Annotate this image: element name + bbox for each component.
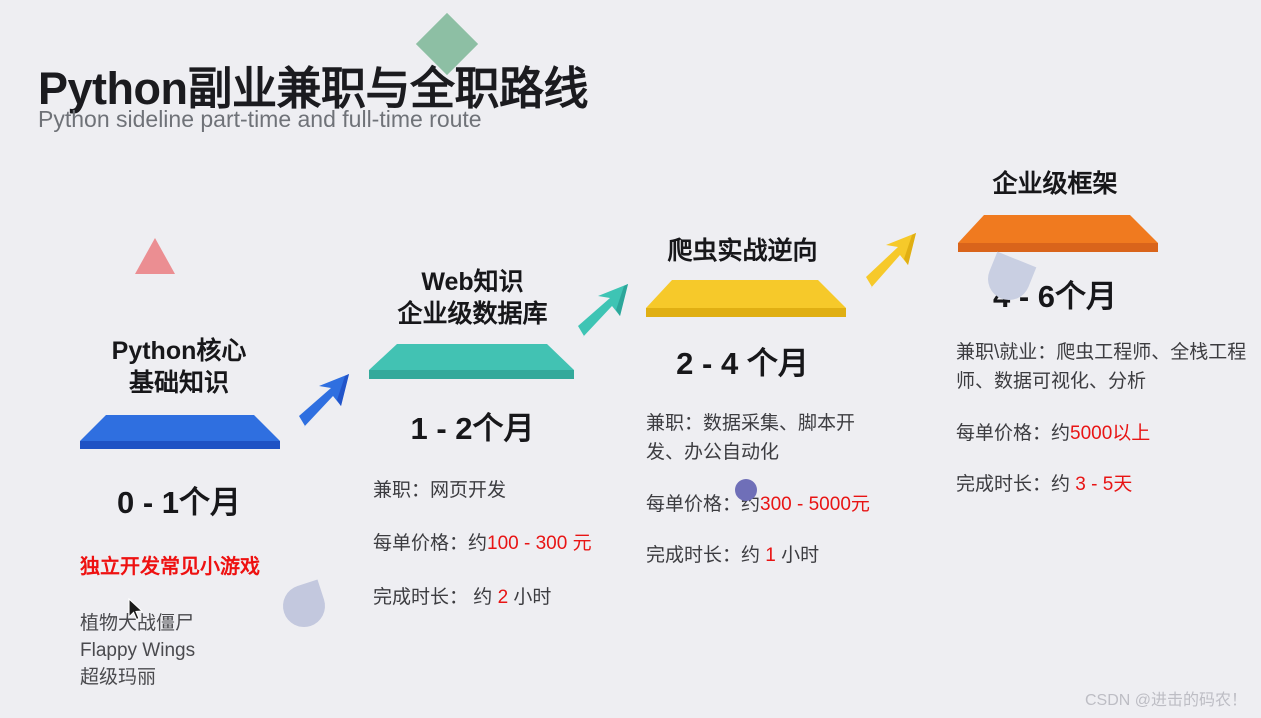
stage-2-detail-row-2: 每单价格：约100 - 300 元 — [373, 529, 593, 558]
stage-4-platform — [958, 211, 1158, 257]
detail-value: 约 — [1051, 474, 1075, 495]
detail-suffix: 小时 — [508, 587, 551, 608]
stage-2-detail-row-3: 完成时长： 约 2 小时 — [373, 583, 593, 612]
arrow-stage-3-to-4-icon — [860, 225, 924, 300]
detail-highlight: 1 — [765, 545, 776, 566]
stage-1-heading-line-1: Python核心 — [38, 335, 320, 367]
detail-value: 网页开发 — [430, 480, 506, 501]
stage-4-detail-row-2: 每单价格：约5000以上 — [956, 419, 1248, 448]
stage-2-heading-line-2: 企业级数据库 — [355, 298, 590, 330]
detail-highlight: 100 - 300 元 — [487, 533, 592, 554]
detail-label: 兼职： — [646, 413, 703, 434]
detail-label: 完成时长： — [646, 545, 741, 566]
stage-2-duration: 1 - 2个月 — [355, 403, 590, 448]
stage-1-platform — [80, 411, 280, 455]
stage-2-detail-row-1: 兼职：网页开发 — [373, 476, 593, 505]
triangle-decoration-icon — [135, 238, 175, 274]
mouse-cursor-icon — [128, 598, 144, 627]
detail-suffix: 小时 — [776, 545, 819, 566]
stage-4-heading: 企业级框架 — [940, 168, 1170, 200]
stage-4-heading-line-1: 企业级框架 — [940, 168, 1170, 200]
arrow-stage-2-to-3-icon — [572, 276, 636, 349]
detail-highlight: 2 — [498, 587, 509, 608]
detail-label: 兼职\就业： — [956, 342, 1056, 363]
dot-decoration-icon — [735, 479, 757, 501]
page-subtitle: Python sideline part-time and full-time … — [38, 106, 482, 133]
detail-value: 约 — [741, 545, 765, 566]
detail-value: 约 — [468, 587, 498, 608]
detail-highlight: 3 - 5天 — [1075, 474, 1132, 495]
stage-2-heading-line-1: Web知识 — [355, 266, 590, 298]
list-item: Flappy Wings — [80, 638, 338, 665]
stage-3-details: 兼职：数据采集、脚本开发、办公自动化 每单价格：约300 - 5000元 完成时… — [646, 409, 884, 571]
detail-label: 每单价格： — [646, 494, 741, 515]
stage-3-heading-line-1: 爬虫实战逆向 — [640, 235, 845, 267]
stage-3-heading: 爬虫实战逆向 — [640, 235, 845, 267]
stage-2-platform — [369, 340, 574, 384]
stage-1-duration: 0 - 1个月 — [38, 477, 320, 522]
detail-highlight: 300 - 5000元 — [760, 494, 870, 515]
stage-2-heading: Web知识 企业级数据库 — [355, 266, 590, 330]
detail-label: 完成时长： — [373, 587, 468, 608]
list-item: 超级玛丽 — [80, 665, 338, 692]
stage-3-detail-row-1: 兼职：数据采集、脚本开发、办公自动化 — [646, 409, 884, 468]
stage-3-duration: 2 - 4 个月 — [640, 338, 845, 383]
stage-4-details: 兼职\就业：爬虫工程师、全栈工程师、数据可视化、分析 每单价格：约5000以上 … — [956, 338, 1248, 500]
stage-3-detail-row-3: 完成时长：约 1 小时 — [646, 541, 884, 570]
stage-4-detail-row-3: 完成时长：约 3 - 5天 — [956, 470, 1248, 499]
detail-label: 每单价格： — [373, 533, 468, 554]
detail-label: 完成时长： — [956, 474, 1051, 495]
stage-3-detail-row-2: 每单价格：约300 - 5000元 — [646, 490, 884, 519]
stage-4-detail-row-1: 兼职\就业：爬虫工程师、全栈工程师、数据可视化、分析 — [956, 338, 1248, 397]
detail-highlight: 5000以上 — [1070, 423, 1150, 444]
detail-value: 约 — [1051, 423, 1070, 444]
stage-1-heading-line-2: 基础知识 — [38, 367, 320, 399]
stage-column-4: 企业级框架 4 - 6个月 兼职\就业：爬虫工程师、全栈工程师、数据可视化、分析… — [940, 168, 1240, 500]
slide-canvas: Python副业兼职与全职路线 Python sideline part-tim… — [0, 0, 1261, 718]
detail-label: 每单价格： — [956, 423, 1051, 444]
stage-3-platform — [646, 276, 846, 322]
stage-1-highlight-note: 独立开发常见小游戏 — [80, 550, 338, 579]
detail-value: 约 — [468, 533, 487, 554]
arrow-stage-1-to-2-icon — [293, 366, 357, 439]
stage-2-details: 兼职：网页开发 每单价格：约100 - 300 元 完成时长： 约 2 小时 — [373, 476, 593, 612]
watermark: CSDN @进击的码农！ — [1085, 686, 1247, 710]
stage-4-duration: 4 - 6个月 — [940, 271, 1170, 316]
stage-1-heading: Python核心 基础知识 — [38, 335, 320, 399]
detail-label: 兼职： — [373, 480, 430, 501]
